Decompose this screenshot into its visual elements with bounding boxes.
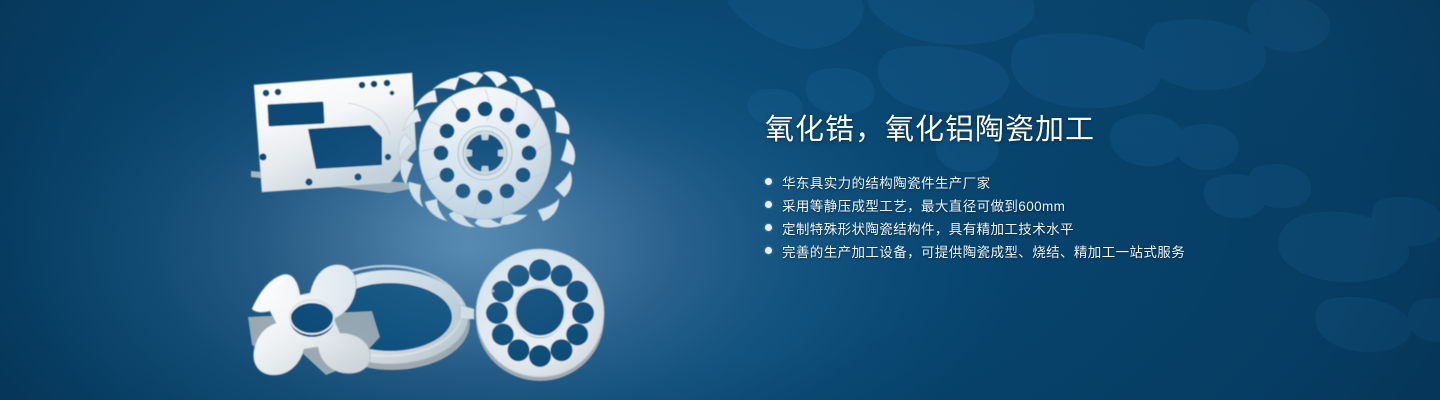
product-ceramic-impeller-wheel	[399, 71, 575, 227]
feature-list: 华东具实力的结构陶瓷件生产厂家 采用等静压成型工艺，最大直径可做到600mm 定…	[765, 170, 1385, 262]
bullet-dot-icon	[765, 224, 772, 231]
list-item: 定制特殊形状陶瓷结构件，具有精加工技术水平	[765, 216, 1385, 239]
hero-banner: 氧化锆，氧化铝陶瓷加工 华东具实力的结构陶瓷件生产厂家 采用等静压成型工艺，最大…	[0, 0, 1440, 400]
list-item-label: 华东具实力的结构陶瓷件生产厂家	[782, 172, 991, 192]
bullet-dot-icon	[765, 247, 772, 254]
product-ceramic-perforated-disc	[476, 249, 604, 381]
list-item-label: 完善的生产加工设备，可提供陶瓷成型、烧结、精加工一站式服务	[782, 241, 1185, 261]
bullet-dot-icon	[765, 201, 772, 208]
list-item-label: 定制特殊形状陶瓷结构件，具有精加工技术水平	[782, 218, 1074, 238]
product-photo-cluster	[230, 45, 700, 390]
list-item: 完善的生产加工设备，可提供陶瓷成型、烧结、精加工一站式服务	[765, 239, 1385, 262]
product-ceramic-mounting-plate	[251, 73, 416, 193]
banner-copy: 氧化锆，氧化铝陶瓷加工 华东具实力的结构陶瓷件生产厂家 采用等静压成型工艺，最大…	[765, 110, 1385, 278]
list-item-label: 采用等静压成型工艺，最大直径可做到600mm	[782, 195, 1065, 215]
bullet-dot-icon	[765, 178, 772, 185]
list-item: 采用等静压成型工艺，最大直径可做到600mm	[765, 193, 1385, 216]
list-item: 华东具实力的结构陶瓷件生产厂家	[765, 170, 1385, 193]
page-title: 氧化锆，氧化铝陶瓷加工	[765, 110, 1385, 150]
